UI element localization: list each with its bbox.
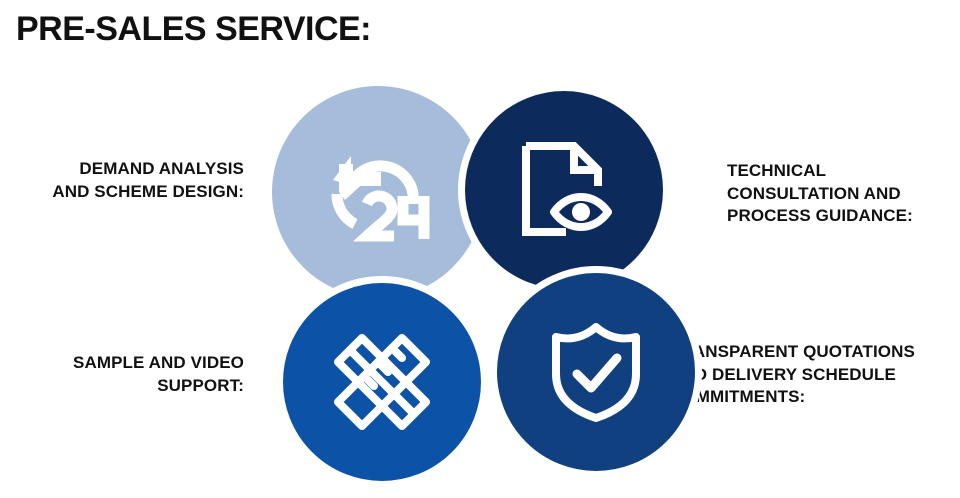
label-technical-line-3: PROCESS GUIDANCE: xyxy=(727,205,957,228)
page-title: PRE-SALES SERVICE: xyxy=(16,10,371,49)
label-quotation: TRANSPARENT QUOTATIONS AND DELIVERY SCHE… xyxy=(670,341,960,409)
label-demand-line-1: DEMAND ANALYSIS xyxy=(0,158,244,181)
rotate-24-hours-icon xyxy=(325,142,431,242)
label-quotation-line-3: COMMITMENTS: xyxy=(670,386,960,409)
circle-cluster xyxy=(268,84,676,494)
label-technical-line-2: CONSULTATION AND xyxy=(727,183,957,206)
circle-quotation[interactable] xyxy=(490,266,702,478)
shield-check-icon xyxy=(550,322,642,422)
circle-demand[interactable] xyxy=(272,86,484,298)
circle-technical[interactable] xyxy=(458,84,670,296)
label-quotation-line-1: TRANSPARENT QUOTATIONS xyxy=(670,341,960,364)
label-sample-line-1: SAMPLE AND VIDEO xyxy=(0,352,244,375)
label-demand: DEMAND ANALYSIS AND SCHEME DESIGN: xyxy=(0,158,244,203)
document-eye-icon xyxy=(516,140,612,240)
label-technical-line-1: TECHNICAL xyxy=(727,160,957,183)
circle-sample[interactable] xyxy=(276,276,488,488)
label-sample: SAMPLE AND VIDEO SUPPORT: xyxy=(0,352,244,397)
pencil-ruler-icon xyxy=(330,330,434,434)
label-sample-line-2: SUPPORT: xyxy=(0,375,244,398)
label-quotation-line-2: AND DELIVERY SCHEDULE xyxy=(670,364,960,387)
label-demand-line-2: AND SCHEME DESIGN: xyxy=(0,181,244,204)
label-technical: TECHNICAL CONSULTATION AND PROCESS GUIDA… xyxy=(727,160,957,228)
